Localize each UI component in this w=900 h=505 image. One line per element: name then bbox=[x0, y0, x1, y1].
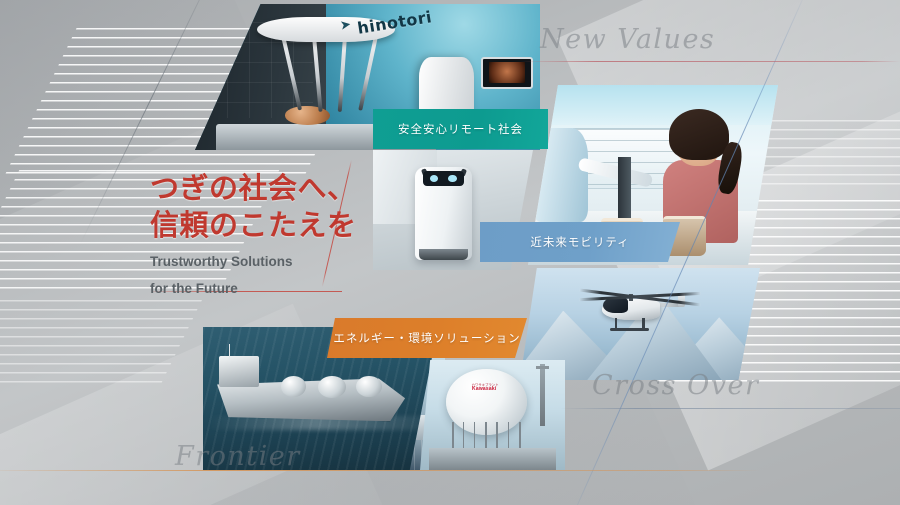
service-robot-face bbox=[423, 171, 464, 186]
bg-stripes-bottom-left bbox=[0, 300, 202, 390]
person-hair bbox=[669, 109, 729, 161]
headline-jp-line-2: 信頼のこたえを bbox=[150, 207, 357, 244]
band-remote-society[interactable]: 安全安心リモート社会 bbox=[373, 109, 548, 149]
cafe-ceiling bbox=[528, 85, 778, 125]
surgical-specimen bbox=[285, 106, 330, 125]
decor-word-cross-over: Cross Over bbox=[592, 370, 759, 401]
band-energy-environment-solution-label: エネルギー・環境ソリューション bbox=[327, 318, 527, 358]
service-robot-body bbox=[415, 167, 473, 261]
slide-canvas: ➤ hinotori bbox=[0, 0, 900, 505]
band-near-future-mobility[interactable]: 近未来モビリティ bbox=[480, 222, 680, 262]
helicopter-skid bbox=[615, 318, 618, 329]
ship-cargo-dome bbox=[356, 376, 382, 397]
headline-block: つぎの社会へ、 信頼のこたえを Trustworthy Solutions fo… bbox=[150, 170, 357, 299]
service-robot-base bbox=[419, 249, 467, 260]
band-near-future-mobility-label: 近未来モビリティ bbox=[480, 222, 680, 262]
band-energy-environment-solution[interactable]: エネルギー・環境ソリューション bbox=[327, 318, 527, 358]
decor-word-frontier: Frontier bbox=[175, 441, 301, 472]
headline-en-line-1: Trustworthy Solutions bbox=[150, 252, 357, 272]
ship-mast bbox=[229, 344, 231, 361]
kawasaki-brand-text: Kawasaki bbox=[466, 386, 503, 392]
decor-rule-frontier bbox=[0, 470, 760, 471]
decor-rule-new-values bbox=[520, 61, 900, 62]
lng-tower bbox=[540, 364, 544, 426]
helicopter-skid-bar bbox=[610, 328, 649, 331]
lng-base-platform bbox=[429, 448, 557, 470]
headline-en-line-2: for the Future bbox=[150, 279, 357, 299]
lng-spherical-tank-photo[interactable]: カワサキプラント Kawasaki bbox=[420, 360, 565, 470]
band-remote-society-label: 安全安心リモート社会 bbox=[373, 109, 548, 149]
ship-superstructure bbox=[219, 356, 259, 387]
helicopter-skid bbox=[642, 318, 645, 329]
hinotori-bird-icon: ➤ bbox=[339, 16, 352, 34]
lng-photo-content: カワサキプラント Kawasaki bbox=[420, 360, 565, 470]
decor-rule-cross-over bbox=[560, 408, 900, 409]
helicopter bbox=[597, 286, 679, 331]
decor-word-new-values: New Values bbox=[540, 24, 715, 55]
headline-jp-line-1: つぎの社会へ、 bbox=[150, 170, 357, 207]
lng-tank-legs bbox=[449, 422, 524, 451]
